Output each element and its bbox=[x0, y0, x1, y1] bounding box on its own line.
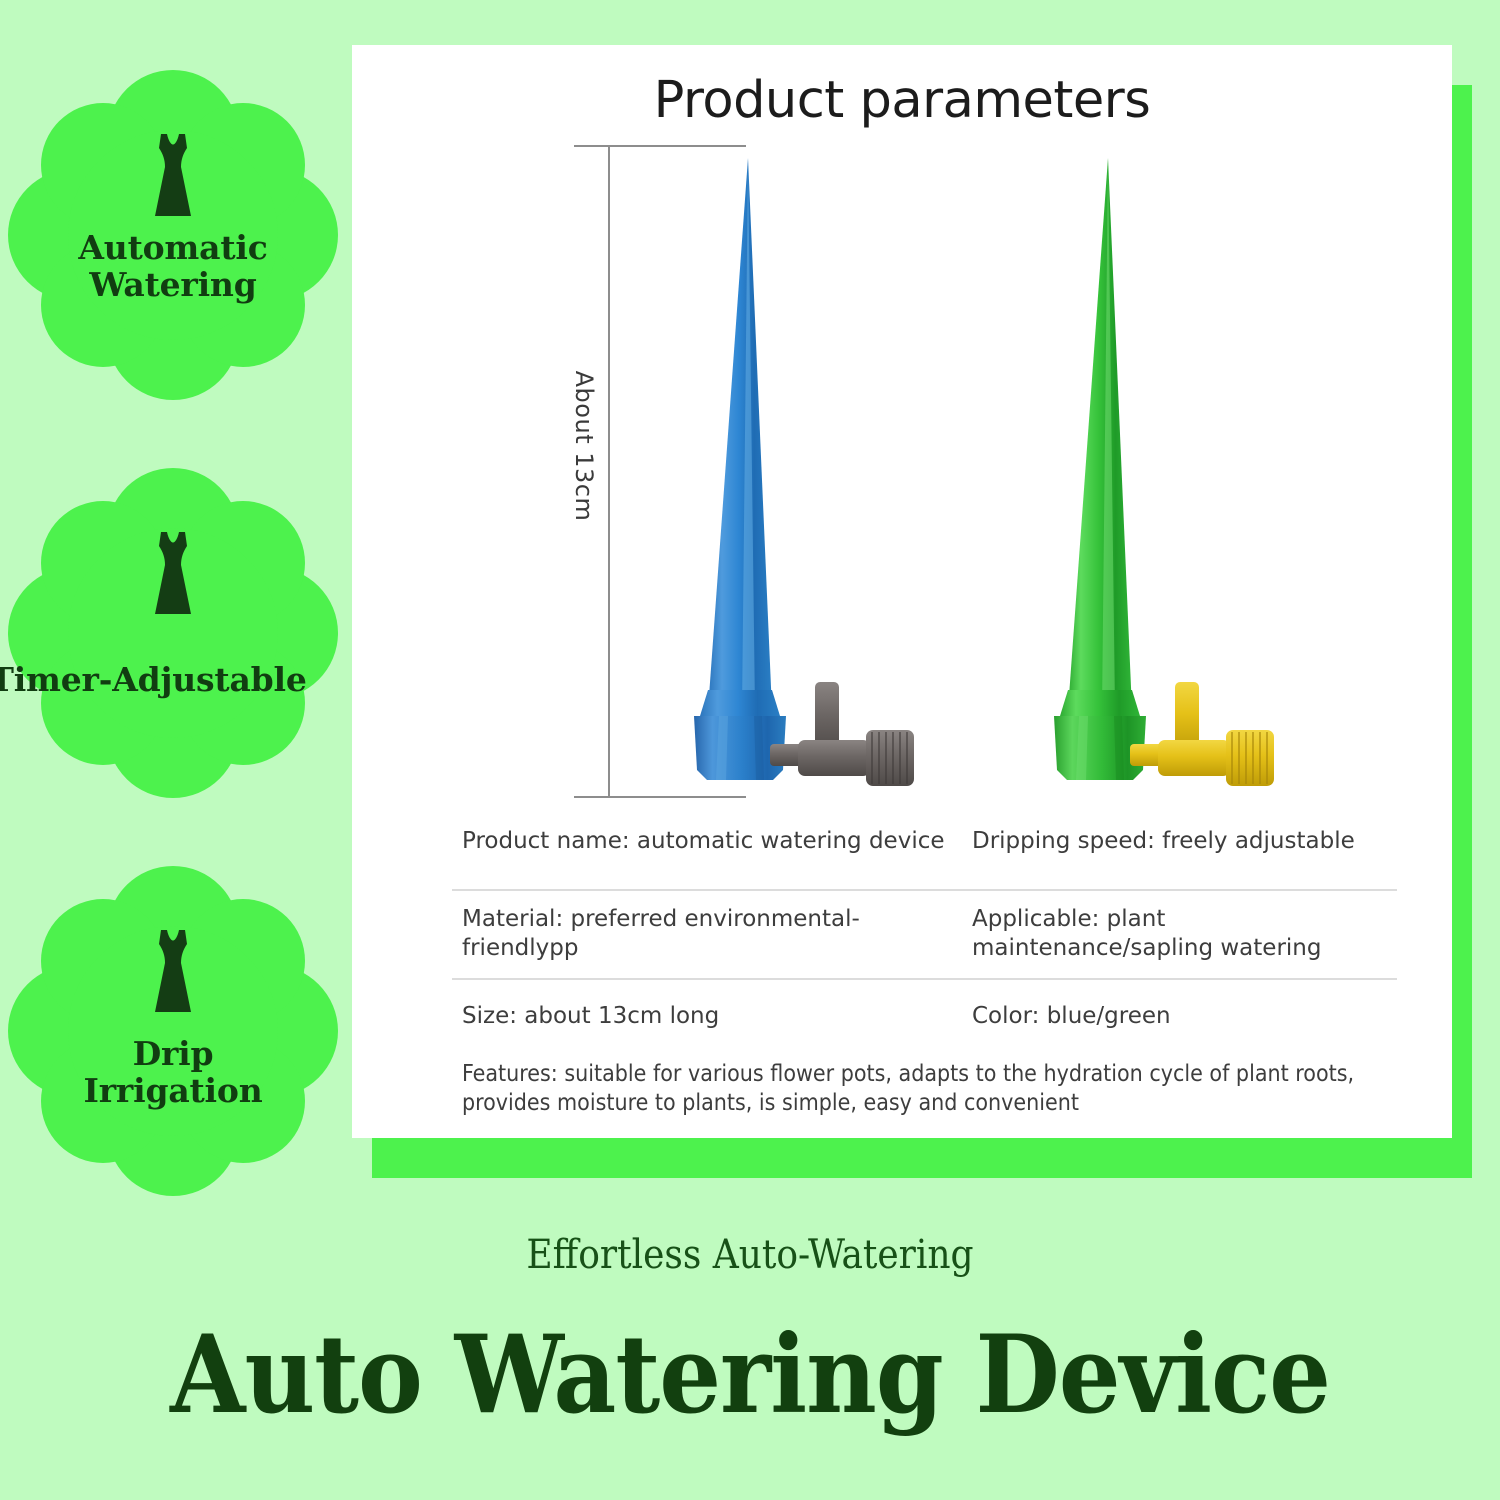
spec-row: Product name: automatic watering device … bbox=[452, 813, 1397, 891]
dimension-cap-top bbox=[574, 145, 746, 147]
feature-badge-label: Drip Irrigation bbox=[84, 1036, 263, 1110]
footer-headline: Auto Watering Device bbox=[0, 1312, 1500, 1438]
blue-watering-spike-image bbox=[602, 150, 932, 810]
spec-size: Size: about 13cm long bbox=[452, 980, 962, 1056]
spec-row: Size: about 13cm long Color: blue/green bbox=[452, 980, 1397, 1056]
footer-subtitle: Effortless Auto-Watering bbox=[0, 1232, 1500, 1278]
feature-badge-label: Automatic Watering bbox=[78, 230, 267, 304]
card-title: Product parameters bbox=[352, 71, 1452, 130]
spec-dripping-speed: Dripping speed: freely adjustable bbox=[962, 813, 1397, 889]
spec-material: Material: preferred environmental-friend… bbox=[452, 891, 962, 978]
feature-badge-timer-adjustable[interactable]: Timer-Adjustable bbox=[8, 468, 338, 798]
spec-row: Material: preferred environmental-friend… bbox=[452, 891, 1397, 980]
dress-icon bbox=[141, 132, 205, 218]
spec-applicable: Applicable: plant maintenance/sapling wa… bbox=[962, 891, 1397, 978]
spec-color: Color: blue/green bbox=[962, 980, 1397, 1056]
dimension-label: About 13cm bbox=[570, 351, 598, 541]
feature-badge-label: Timer-Adjustable bbox=[0, 662, 363, 699]
features-text: Features: suitable for various flower po… bbox=[452, 1060, 1397, 1118]
dress-icon bbox=[141, 530, 205, 616]
product-parameters-card: Product parameters About 13cm bbox=[352, 45, 1452, 1138]
feature-badge-rail: Automatic Watering bbox=[0, 0, 350, 1210]
feature-badge-drip-irrigation[interactable]: Drip Irrigation bbox=[8, 866, 338, 1196]
spec-product-name: Product name: automatic watering device bbox=[452, 813, 962, 889]
specification-table: Product name: automatic watering device … bbox=[452, 813, 1397, 1056]
dress-icon bbox=[141, 928, 205, 1014]
green-watering-spike-image bbox=[962, 150, 1292, 810]
feature-badge-automatic-watering[interactable]: Automatic Watering bbox=[8, 70, 338, 400]
